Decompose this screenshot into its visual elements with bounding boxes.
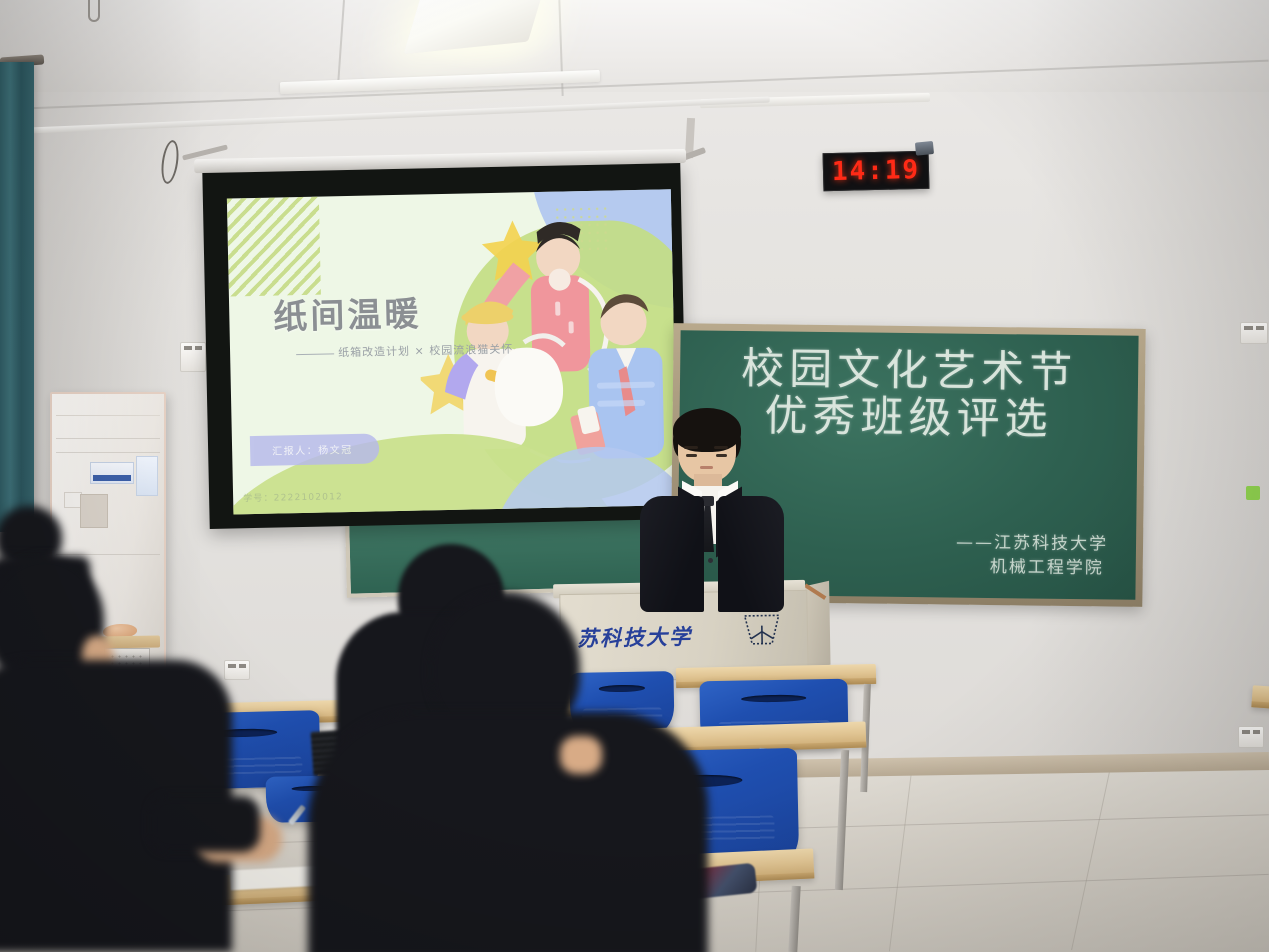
projector-screen: 纸间温暖 纸箱改造计划 × 校园流浪猫关怀 汇报人：杨文冠 学号：2222102… — [202, 163, 687, 529]
chalkboard-signature-line-2: 机械工程学院 — [990, 555, 1108, 581]
wall-outlet[interactable] — [1240, 322, 1268, 344]
ac-sticker-label — [136, 456, 158, 496]
student-presenter — [634, 408, 790, 608]
slide-title: 纸间温暖 — [273, 286, 422, 338]
audience-arm — [150, 796, 260, 852]
ceiling-hook-icon — [88, 0, 100, 22]
chalkboard-signature-line-1: ——江苏科技大学 — [956, 530, 1108, 556]
clock-time: 14:19 — [832, 155, 921, 187]
window-curtain — [0, 62, 34, 532]
classroom-scene: 14:19 — [0, 0, 1269, 952]
chalkboard-signature: ——江苏科技大学 机械工程学院 — [956, 530, 1109, 581]
presenter-jacket — [640, 496, 704, 612]
wall-outlet[interactable] — [1238, 726, 1264, 748]
audience-body — [308, 712, 708, 952]
wall-sticker-icon — [1246, 486, 1260, 500]
ac-top-seam — [56, 400, 160, 416]
slide-presenter-label: 汇报人：杨文冠 — [250, 433, 379, 466]
wall-outlet[interactable] — [224, 660, 250, 680]
boat-hull-logo-icon — [741, 611, 784, 648]
clock-sensor-icon — [915, 141, 934, 156]
slide-student-id: 学号：2222102012 — [243, 489, 343, 504]
presentation-slide: 纸间温暖 纸箱改造计划 × 校园流浪猫关怀 汇报人：杨文冠 学号：2222102… — [227, 189, 678, 514]
presenter-hair — [673, 408, 741, 452]
chalkboard-line-1: 校园文化艺术节 — [680, 344, 1139, 399]
slide-stripe-pattern — [227, 197, 321, 297]
audience-hand — [560, 736, 602, 774]
wall-outlet[interactable] — [180, 342, 206, 372]
ac-energy-label — [90, 462, 134, 484]
ac-control-panel[interactable] — [80, 494, 108, 528]
podium-institution-name: 苏科技大学 — [577, 621, 693, 653]
digital-clock: 14:19 — [823, 151, 930, 192]
